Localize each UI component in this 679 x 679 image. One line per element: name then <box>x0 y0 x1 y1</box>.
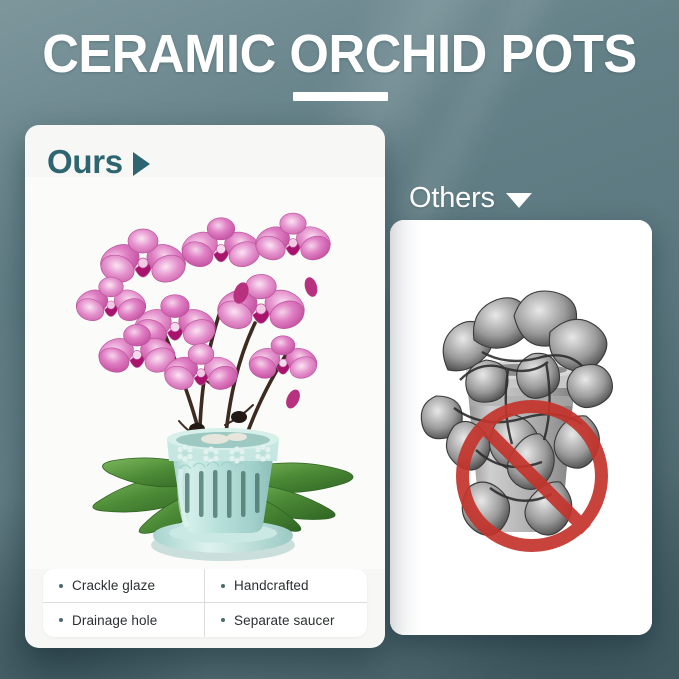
triangle-right-icon <box>133 152 150 176</box>
feature-item: Drainage hole <box>43 603 205 637</box>
bullet-dot-icon <box>59 618 63 622</box>
feature-item: Separate saucer <box>205 603 367 637</box>
ours-product-photo <box>25 177 385 569</box>
infographic-root: CERAMIC ORCHID POTS Others <box>0 0 679 679</box>
others-label: Others <box>409 182 532 215</box>
bullet-dot-icon <box>59 584 63 588</box>
ours-label-text: Ours <box>47 143 123 181</box>
bullet-dot-icon <box>221 618 225 622</box>
title-underline <box>293 92 388 101</box>
feature-label: Handcrafted <box>234 578 309 593</box>
ours-card: Ours <box>25 125 385 648</box>
feature-grid: Crackle glaze Handcrafted Drainage hole … <box>43 569 367 637</box>
page-title: CERAMIC ORCHID POTS <box>20 25 658 83</box>
ours-label: Ours <box>47 143 150 181</box>
others-card <box>390 220 652 635</box>
others-product-photo <box>390 220 652 635</box>
ours-photo-svg <box>25 177 385 569</box>
feature-label: Drainage hole <box>72 613 157 628</box>
others-label-text: Others <box>409 182 495 215</box>
feature-item: Handcrafted <box>205 569 367 603</box>
feature-label: Separate saucer <box>234 613 335 628</box>
bullet-dot-icon <box>221 584 225 588</box>
triangle-down-icon <box>506 193 532 208</box>
feature-label: Crackle glaze <box>72 578 155 593</box>
feature-item: Crackle glaze <box>43 569 205 603</box>
prohibition-icon <box>456 400 608 552</box>
